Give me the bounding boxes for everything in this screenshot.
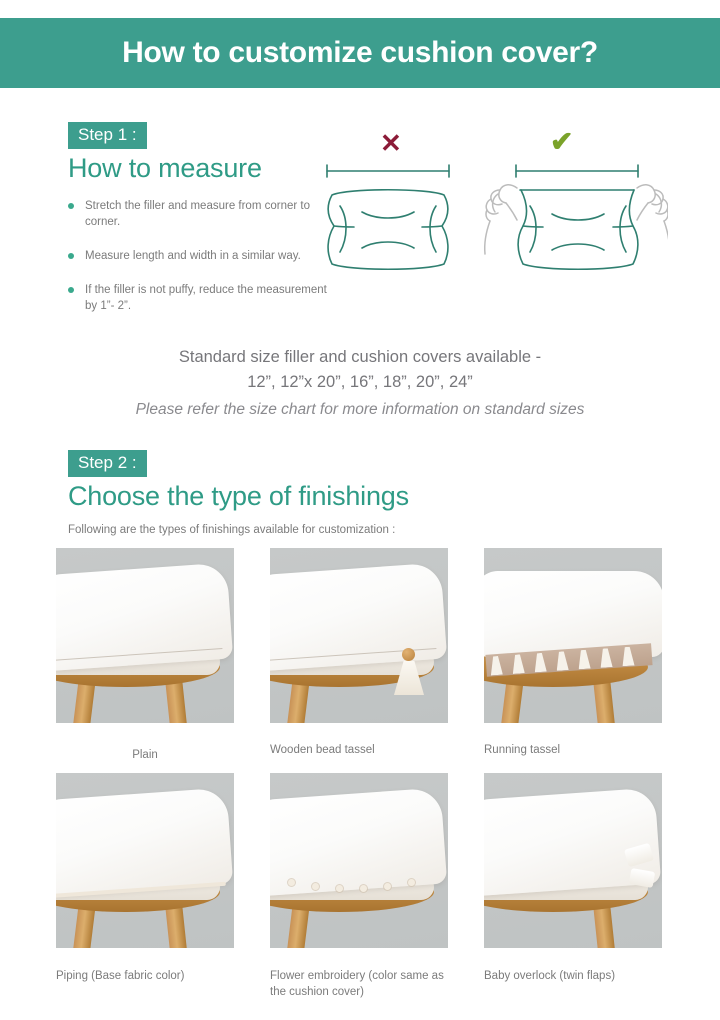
- finishings-grid: Plain Wooden bead tassel: [56, 548, 664, 998]
- finishing-caption: Flower embroidery (color same as the cus…: [270, 968, 448, 1000]
- finishing-photo-flower-embroidery: [270, 773, 448, 948]
- finishing-cell-flower-embroidery[interactable]: Flower embroidery (color same as the cus…: [270, 773, 448, 948]
- finishings-row-2: Piping (Base fabric color) Flower embroi…: [56, 773, 664, 998]
- finishing-cell-plain[interactable]: Plain: [56, 548, 234, 723]
- list-item: Measure length and width in a similar wa…: [68, 248, 328, 265]
- list-item: If the filler is not puffy, reduce the m…: [68, 282, 328, 315]
- step-2-badge: Step 2 :: [68, 450, 147, 477]
- header-banner: How to customize cushion cover?: [0, 18, 720, 88]
- finishing-photo-wooden-bead-tassel: [270, 548, 448, 723]
- cross-mark-icon: ✕: [380, 130, 402, 156]
- step-1-heading: How to measure: [68, 153, 328, 184]
- bullet-dot-icon: [68, 253, 74, 259]
- flower-embroidery-motif: [408, 879, 415, 886]
- flower-embroidery-motif: [336, 885, 343, 892]
- cushion-seam: [56, 648, 222, 661]
- step-1-section: Step 1 : How to measure Stretch the fill…: [68, 122, 328, 332]
- finishing-cell-baby-overlock[interactable]: Baby overlock (twin flaps): [484, 773, 662, 948]
- list-item: Stretch the filler and measure from corn…: [68, 198, 328, 231]
- step-2-heading: Choose the type of finishings: [68, 481, 668, 512]
- size-chart-note: Please refer the size chart for more inf…: [0, 398, 720, 421]
- standard-sizes-block: Standard size filler and cushion covers …: [0, 345, 720, 421]
- cushion-body: [56, 562, 233, 671]
- standard-sizes-line-1: Standard size filler and cushion covers …: [0, 345, 720, 370]
- list-item-label: Measure length and width in a similar wa…: [85, 250, 301, 262]
- cushion-body: [56, 787, 233, 896]
- flower-embroidery-motif: [384, 883, 391, 890]
- finishing-photo-plain: [56, 548, 234, 723]
- step-2-section: Step 2 : Choose the type of finishings F…: [68, 450, 668, 536]
- standard-sizes-line-2: 12”, 12”x 20”, 16”, 18”, 20”, 24”: [0, 370, 720, 395]
- finishing-caption: Wooden bead tassel: [270, 742, 448, 758]
- list-item-label: Stretch the filler and measure from corn…: [85, 200, 310, 229]
- finishings-row-1: Plain Wooden bead tassel: [56, 548, 664, 773]
- finishing-caption: Baby overlock (twin flaps): [484, 968, 662, 984]
- list-item-label: If the filler is not puffy, reduce the m…: [85, 284, 327, 313]
- step-1-bullet-list: Stretch the filler and measure from corn…: [68, 198, 328, 315]
- finishing-cell-wooden-bead-tassel[interactable]: Wooden bead tassel: [270, 548, 448, 723]
- finishing-photo-piping: [56, 773, 234, 948]
- flower-embroidery-motif: [360, 885, 367, 892]
- flower-embroidery-motif: [312, 883, 319, 890]
- cushion-body: [270, 562, 447, 671]
- check-mark-icon: ✔: [550, 128, 573, 156]
- flower-embroidery-motif: [288, 879, 295, 886]
- finishing-caption: Running tassel: [484, 742, 662, 758]
- finishing-photo-running-tassel: [484, 548, 662, 723]
- bullet-dot-icon: [68, 287, 74, 293]
- finishing-caption: Piping (Base fabric color): [56, 968, 234, 984]
- cushion-measure-illustration: [318, 128, 668, 318]
- finishing-cell-running-tassel[interactable]: Running tassel: [484, 548, 662, 723]
- finishing-cell-piping[interactable]: Piping (Base fabric color): [56, 773, 234, 948]
- bullet-dot-icon: [68, 203, 74, 209]
- cushion-body: [270, 787, 447, 896]
- finishing-caption: Plain: [56, 747, 234, 763]
- step-1-badge: Step 1 :: [68, 122, 147, 149]
- page-title: How to customize cushion cover?: [122, 36, 598, 70]
- finishing-photo-baby-overlock: [484, 773, 662, 948]
- wooden-bead-icon: [402, 648, 415, 661]
- step-2-intro-text: Following are the types of finishings av…: [68, 524, 668, 536]
- measure-diagram-area: ✕ ✔: [318, 128, 668, 318]
